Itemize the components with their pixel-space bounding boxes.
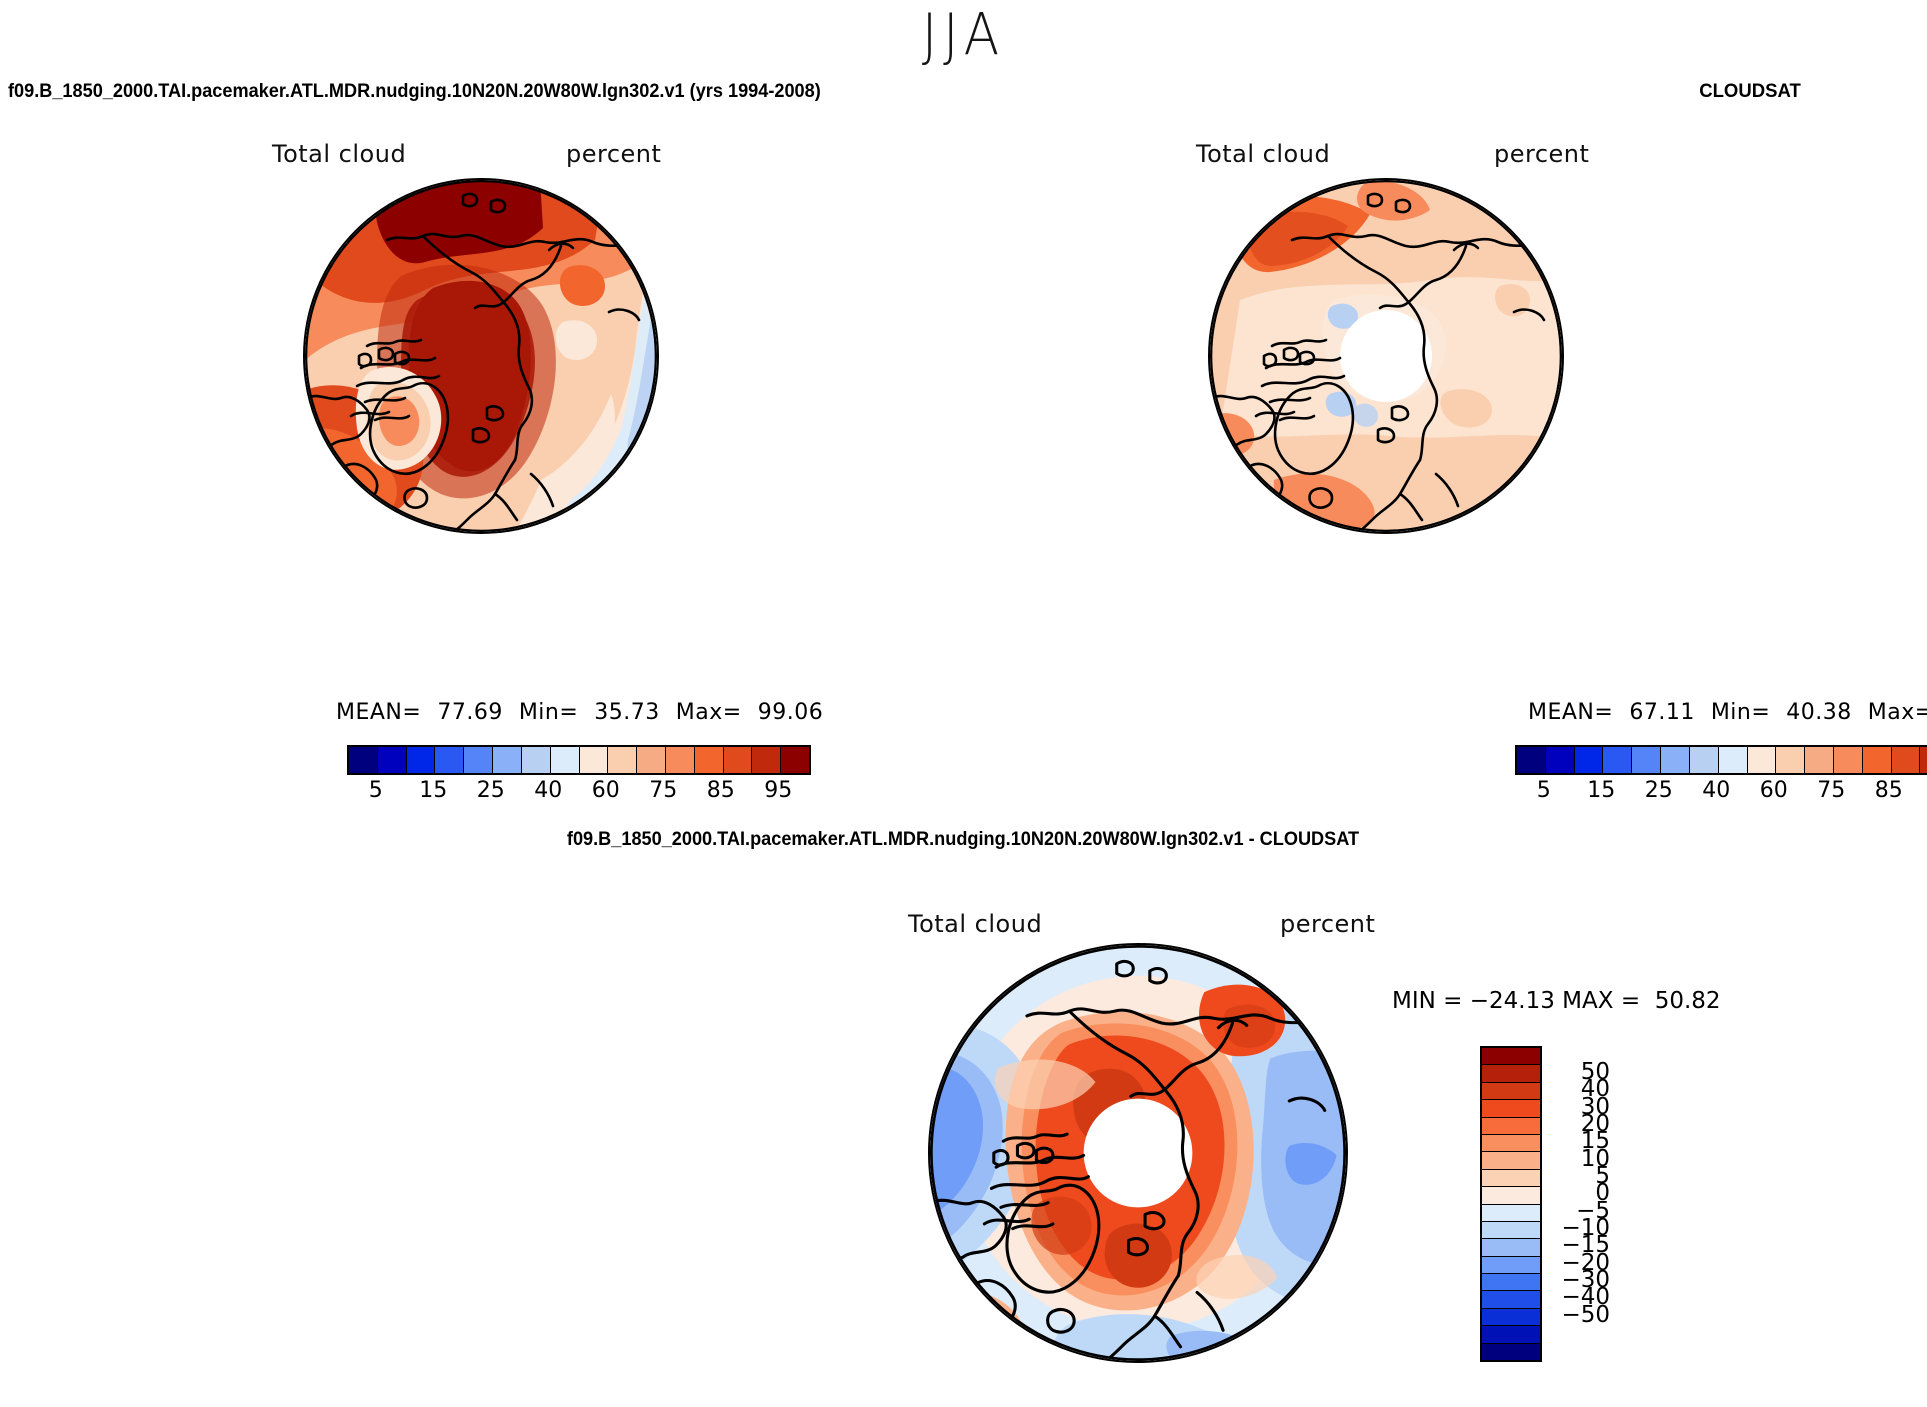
model-colorbar bbox=[347, 745, 811, 775]
colorbar-tick-label: 60 bbox=[592, 778, 620, 803]
difference-stats-line: MIN = −24.13 MAX = 50.82 bbox=[1392, 988, 1721, 1014]
colorbar-cell bbox=[608, 747, 637, 773]
model-variable-label: Total cloud bbox=[272, 140, 406, 168]
colorbar-cell bbox=[1892, 747, 1921, 773]
obs-variable-label: Total cloud bbox=[1196, 140, 1330, 168]
colorbar-cell bbox=[580, 747, 609, 773]
model-title-text: f09.B_1850_2000.TAI.pacemaker.ATL.MDR.nu… bbox=[8, 80, 821, 103]
model-units-label: percent bbox=[566, 140, 661, 168]
colorbar-tick-label: 5 bbox=[1537, 778, 1551, 803]
colorbar-cell bbox=[551, 747, 580, 773]
colorbar-cell bbox=[1482, 1083, 1540, 1100]
colorbar-cell bbox=[1482, 1291, 1540, 1308]
model-min-value: 35.73 bbox=[594, 700, 659, 725]
model-min-label: Min= bbox=[519, 700, 578, 725]
colorbar-cell bbox=[1603, 747, 1632, 773]
colorbar-tick-label: −50 bbox=[1548, 1302, 1610, 1328]
colorbar-cell bbox=[1920, 747, 1927, 773]
colorbar-cell bbox=[464, 747, 493, 773]
difference-title-text: f09.B_1850_2000.TAI.pacemaker.ATL.MDR.nu… bbox=[567, 828, 1359, 851]
obs-min-label: Min= bbox=[1711, 700, 1770, 725]
colorbar-tick-label: 5 bbox=[369, 778, 383, 803]
colorbar-tick-label: 85 bbox=[707, 778, 735, 803]
colorbar-cell bbox=[1482, 1239, 1540, 1256]
obs-mean-value: 67.11 bbox=[1629, 700, 1694, 725]
colorbar-cell bbox=[1690, 747, 1719, 773]
obs-mean-label: MEAN= bbox=[1528, 700, 1613, 725]
colorbar-cell bbox=[1482, 1048, 1540, 1065]
colorbar-tick-label: 75 bbox=[649, 778, 677, 803]
obs-panel-title: CLOUDSAT bbox=[1750, 80, 1857, 103]
colorbar-cell bbox=[1482, 1135, 1540, 1152]
difference-units-label: percent bbox=[1280, 910, 1375, 938]
colorbar-cell bbox=[1482, 1100, 1540, 1117]
colorbar-tick-label: 40 bbox=[1702, 778, 1730, 803]
colorbar-cell bbox=[1482, 1065, 1540, 1082]
model-panel-title: f09.B_1850_2000.TAI.pacemaker.ATL.MDR.nu… bbox=[8, 80, 882, 103]
colorbar-cell bbox=[1482, 1170, 1540, 1187]
colorbar-tick-label: 60 bbox=[1760, 778, 1788, 803]
colorbar-cell bbox=[1632, 747, 1661, 773]
colorbar-cell bbox=[1482, 1257, 1540, 1274]
colorbar-cell bbox=[724, 747, 753, 773]
colorbar-cell bbox=[407, 747, 436, 773]
obs-stats-line: MEAN=67.11Min=40.38Max=85.96 bbox=[1528, 700, 1927, 725]
colorbar-cell bbox=[666, 747, 695, 773]
colorbar-cell bbox=[781, 747, 809, 773]
colorbar-cell bbox=[1748, 747, 1777, 773]
colorbar-tick-label: 25 bbox=[477, 778, 505, 803]
obs-map-canvas bbox=[1210, 180, 1562, 532]
colorbar-cell bbox=[1482, 1309, 1540, 1326]
model-map-canvas bbox=[305, 180, 657, 532]
difference-max-value: 50.82 bbox=[1655, 988, 1721, 1014]
colorbar-cell bbox=[493, 747, 522, 773]
colorbar-cell bbox=[1661, 747, 1690, 773]
colorbar-cell bbox=[637, 747, 666, 773]
obs-colorbar-ticks: 515254060758595 bbox=[1515, 778, 1927, 812]
colorbar-cell bbox=[1776, 747, 1805, 773]
colorbar-tick-label: 95 bbox=[764, 778, 792, 803]
obs-colorbar bbox=[1515, 745, 1927, 775]
colorbar-cell bbox=[1517, 747, 1546, 773]
model-stats-line: MEAN=77.69Min=35.73Max=99.06 bbox=[336, 700, 823, 725]
colorbar-cell bbox=[1482, 1274, 1540, 1291]
colorbar-cell bbox=[1863, 747, 1892, 773]
colorbar-cell bbox=[1834, 747, 1863, 773]
colorbar-cell bbox=[378, 747, 407, 773]
colorbar-cell bbox=[1575, 747, 1604, 773]
colorbar-cell bbox=[1482, 1326, 1540, 1343]
colorbar-cell bbox=[695, 747, 724, 773]
difference-colorbar bbox=[1480, 1046, 1542, 1362]
colorbar-tick-label: 75 bbox=[1817, 778, 1845, 803]
model-max-label: Max= bbox=[676, 700, 742, 725]
colorbar-cell bbox=[1482, 1187, 1540, 1204]
difference-panel-title: f09.B_1850_2000.TAI.pacemaker.ATL.MDR.nu… bbox=[963, 828, 1815, 851]
model-colorbar-ticks: 515254060758595 bbox=[347, 778, 807, 812]
difference-max-label: MAX = bbox=[1562, 988, 1640, 1014]
model-mean-label: MEAN= bbox=[336, 700, 421, 725]
colorbar-cell bbox=[1482, 1222, 1540, 1239]
colorbar-cell bbox=[1546, 747, 1575, 773]
obs-min-value: 40.38 bbox=[1786, 700, 1851, 725]
difference-map-canvas bbox=[930, 945, 1346, 1361]
colorbar-cell bbox=[1482, 1205, 1540, 1222]
difference-polar-map bbox=[928, 943, 1348, 1363]
model-max-value: 99.06 bbox=[758, 700, 823, 725]
model-mean-value: 77.69 bbox=[437, 700, 502, 725]
colorbar-cell bbox=[349, 747, 378, 773]
difference-min-value: −24.13 bbox=[1470, 988, 1555, 1014]
colorbar-tick-label: 15 bbox=[419, 778, 447, 803]
difference-variable-label: Total cloud bbox=[908, 910, 1042, 938]
obs-title-text: CLOUDSAT bbox=[1699, 80, 1801, 103]
colorbar-tick-label: 15 bbox=[1587, 778, 1615, 803]
colorbar-cell bbox=[522, 747, 551, 773]
colorbar-cell bbox=[1482, 1344, 1540, 1360]
obs-max-label: Max= bbox=[1868, 700, 1927, 725]
difference-min-label: MIN = bbox=[1392, 988, 1462, 1014]
colorbar-cell bbox=[435, 747, 464, 773]
obs-units-label: percent bbox=[1494, 140, 1589, 168]
colorbar-cell bbox=[1719, 747, 1748, 773]
model-polar-map bbox=[303, 178, 659, 534]
obs-polar-map bbox=[1208, 178, 1564, 534]
colorbar-cell bbox=[752, 747, 781, 773]
colorbar-cell bbox=[1805, 747, 1834, 773]
colorbar-cell bbox=[1482, 1152, 1540, 1169]
colorbar-cell bbox=[1482, 1118, 1540, 1135]
colorbar-tick-label: 85 bbox=[1875, 778, 1903, 803]
colorbar-tick-label: 40 bbox=[534, 778, 562, 803]
colorbar-tick-label: 25 bbox=[1645, 778, 1673, 803]
season-title: JJA bbox=[0, 2, 1927, 69]
